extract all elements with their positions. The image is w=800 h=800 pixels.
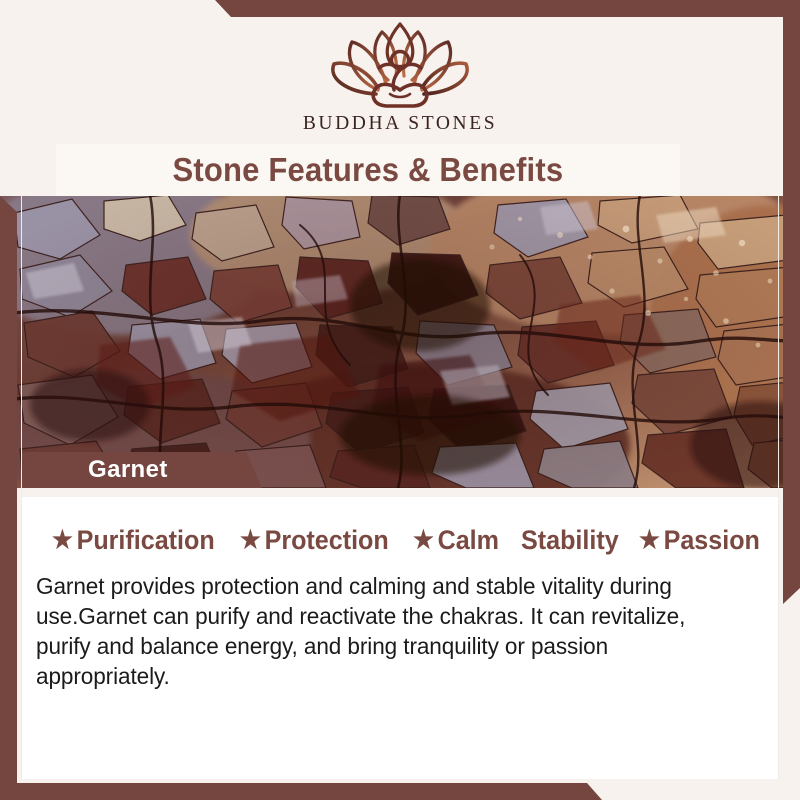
star-icon: ★ [413, 528, 434, 553]
feature-list: ★ Purification ★ Protection ★ Calm Stabi… [52, 525, 752, 556]
frame-right-band [783, 0, 800, 800]
feature-label: Passion [664, 525, 760, 556]
feature-label: Stability [521, 525, 619, 556]
feature-label: Purification [77, 525, 215, 556]
frame-bottom-band [0, 783, 800, 800]
feature-protection: ★ Protection [240, 525, 389, 556]
stone-name: Garnet [88, 456, 168, 484]
feature-label: Protection [265, 525, 389, 556]
content-panel: ★ Purification ★ Protection ★ Calm Stabi… [22, 497, 778, 779]
lotus-meditation-icon [316, 18, 484, 110]
brand-name: BUDDHA STONES [303, 113, 497, 135]
feature-stability: Stability [521, 525, 619, 556]
stone-info-card: BUDDHA STONES Stone Features & Benefits [0, 0, 800, 800]
feature-label: Calm [437, 525, 498, 556]
feature-purification: ★ Purification [52, 525, 215, 556]
stone-description: Garnet provides protection and calming a… [36, 571, 731, 691]
page-title: Stone Features & Benefits [173, 151, 564, 189]
feature-passion: ★ Passion [639, 525, 760, 556]
brand-logo: BUDDHA STONES [0, 18, 800, 135]
stone-name-tag: Garnet [22, 452, 262, 488]
star-icon: ★ [639, 528, 660, 553]
garnet-stone-photo [0, 195, 800, 488]
title-banner: Stone Features & Benefits [56, 144, 680, 196]
feature-calm: ★ Calm [413, 525, 499, 556]
star-icon: ★ [240, 528, 261, 553]
star-icon: ★ [52, 528, 73, 553]
